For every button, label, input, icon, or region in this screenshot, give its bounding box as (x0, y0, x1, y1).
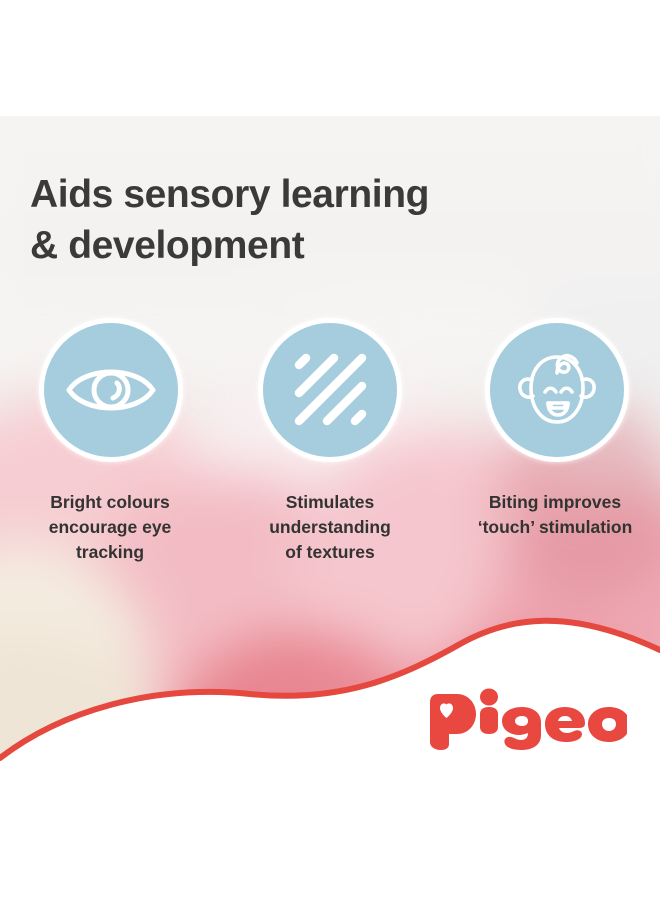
baby-face-icon-badge (485, 318, 629, 462)
logo-letter-i-dot (480, 689, 498, 706)
headline-line-1: Aids sensory learning (30, 173, 429, 216)
feature-caption: Biting improves ‘touch’ stimulation (448, 490, 660, 540)
caption-line-1: Stimulates (230, 490, 430, 515)
headline-line-2: & development (30, 220, 500, 271)
wave-fill (0, 621, 660, 900)
feature-item-textures: Stimulates understanding of textures (220, 318, 440, 565)
poster: Aids sensory learning & development Brig… (0, 0, 660, 900)
logo-letter-o (588, 707, 627, 742)
baby-face-icon (510, 344, 604, 436)
caption-line-1: Biting improves (448, 490, 660, 515)
eye-icon-badge (39, 318, 183, 462)
caption-line-1: Bright colours (10, 490, 210, 515)
logo-letter-e (545, 707, 585, 742)
caption-line-2: encourage eye (10, 515, 210, 540)
pigeon-logotype (427, 688, 627, 750)
brand-logo (427, 688, 627, 750)
caption-line-2: understanding (230, 515, 430, 540)
feature-item-eye-tracking: Bright colours encourage eye tracking (0, 318, 220, 565)
caption-line-3: of textures (230, 540, 430, 565)
feature-caption: Stimulates understanding of textures (230, 490, 430, 565)
caption-line-3: tracking (10, 540, 210, 565)
page-title: Aids sensory learning & development (30, 169, 500, 271)
feature-caption: Bright colours encourage eye tracking (10, 490, 210, 565)
top-white-band (0, 0, 660, 116)
eye-icon (63, 355, 159, 425)
feature-item-biting: Biting improves ‘touch’ stimulation (440, 318, 660, 565)
logo-letter-p (430, 694, 476, 750)
feature-list: Bright colours encourage eye tracking (0, 318, 660, 565)
texture-stripes-icon (286, 346, 374, 434)
caption-line-2: ‘touch’ stimulation (448, 515, 660, 540)
logo-letter-g (502, 707, 541, 750)
logo-letter-i (480, 707, 498, 734)
texture-stripes-icon-badge (258, 318, 402, 462)
